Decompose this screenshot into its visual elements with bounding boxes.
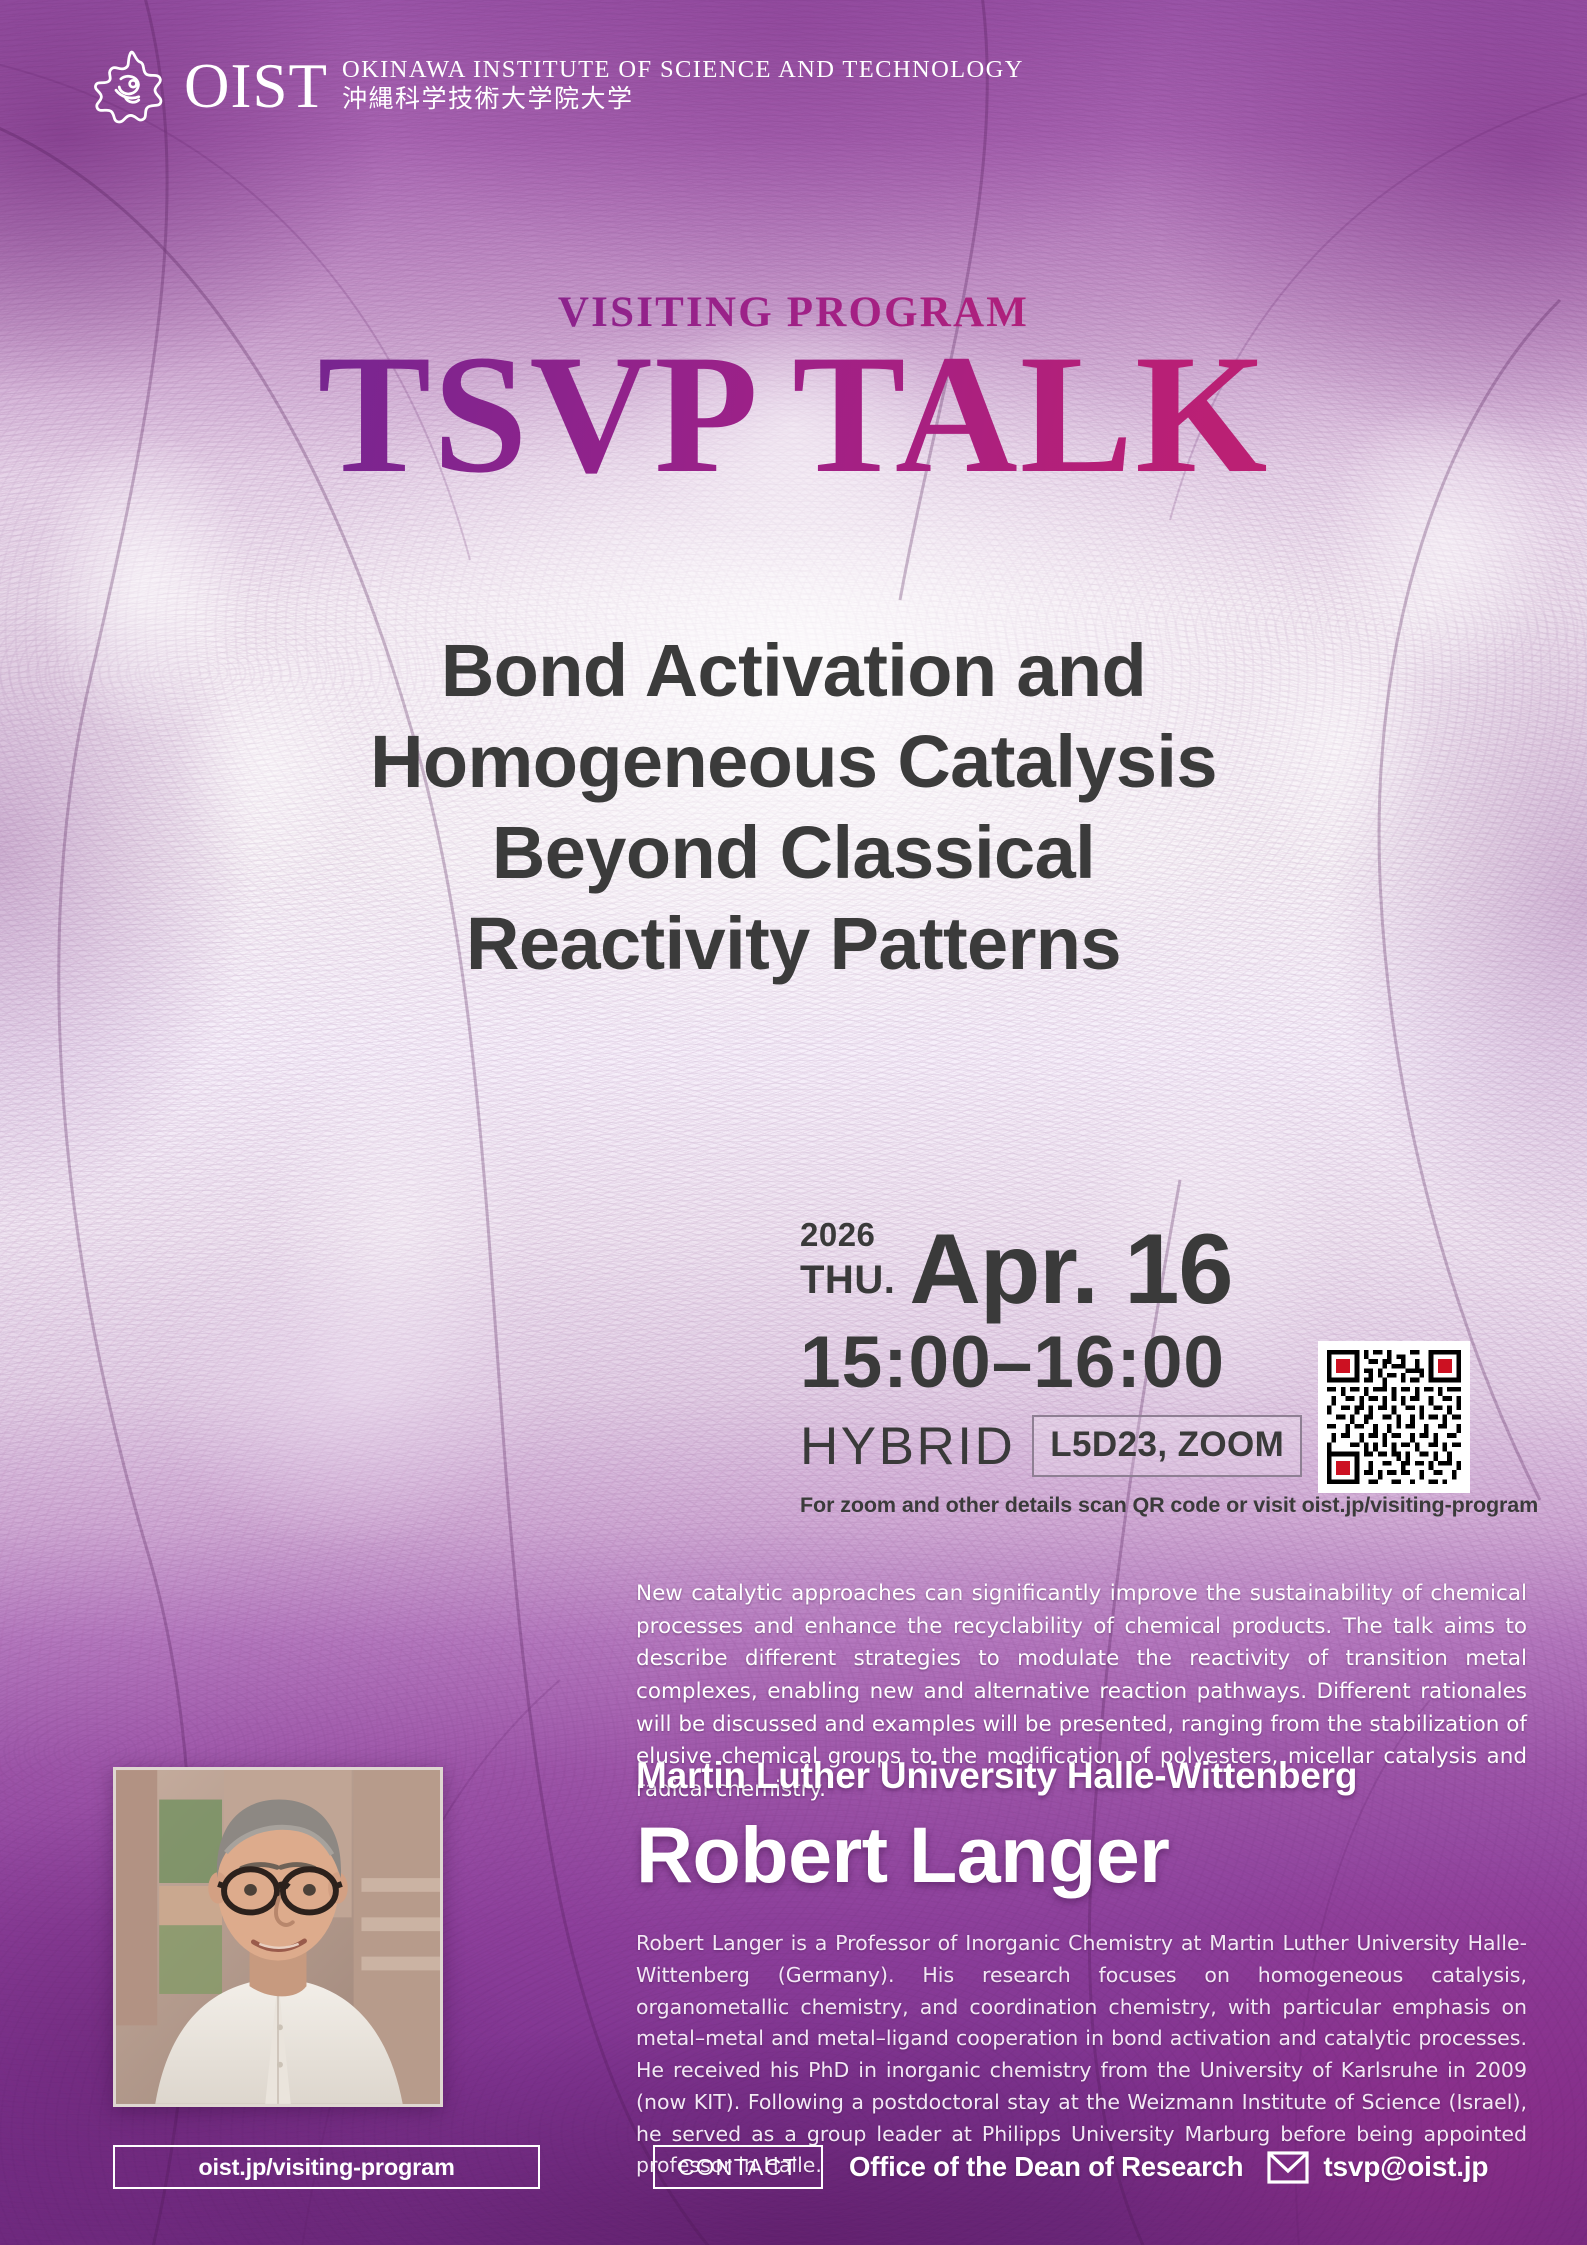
event-date: Apr. 16 <box>909 1223 1232 1314</box>
oist-shisa-logo-icon <box>88 48 170 126</box>
contact-email[interactable]: tsvp@oist.jp <box>1323 2151 1488 2183</box>
talk-title-line: Reactivity Patterns <box>95 898 1492 989</box>
speaker-photo <box>113 1767 443 2107</box>
footer-bar: oist.jp/visiting-program CONTACT Office … <box>0 2145 1587 2189</box>
tsvp-talk-title: TSVP TALK <box>0 325 1587 504</box>
talk-title-line: Homogeneous Catalysis <box>95 716 1492 807</box>
contact-label-box: CONTACT <box>653 2145 823 2189</box>
talk-title-line: Bond Activation and <box>95 625 1492 716</box>
institute-name-jp: 沖縄科学技術大学院大学 <box>342 84 1024 115</box>
qr-code-icon <box>1327 1350 1461 1484</box>
event-mode: HYBRID <box>800 1420 1015 1473</box>
poster: OIST OKINAWA INSTITUTE OF SCIENCE AND TE… <box>0 0 1587 2245</box>
contact-office: Office of the Dean of Research <box>849 2151 1243 2183</box>
oist-header: OIST OKINAWA INSTITUTE OF SCIENCE AND TE… <box>88 48 1024 126</box>
speaker-bio: Robert Langer is a Professor of Inorgani… <box>636 1928 1527 2182</box>
envelope-icon <box>1267 2151 1309 2184</box>
talk-title: Bond Activation and Homogeneous Catalysi… <box>95 625 1492 989</box>
event-day-of-week: THU. <box>800 1260 895 1300</box>
event-venue-badge: L5D23, ZOOM <box>1032 1415 1302 1477</box>
speaker-affiliation: Martin Luther University Halle-Wittenber… <box>636 1755 1527 1797</box>
event-year-dow: 2026 THU. <box>800 1218 895 1314</box>
institute-name-en: OKINAWA INSTITUTE OF SCIENCE AND TECHNOL… <box>342 56 1024 84</box>
qr-code[interactable] <box>1318 1341 1470 1493</box>
talk-title-line: Beyond Classical <box>95 807 1492 898</box>
oist-institute-names: OKINAWA INSTITUTE OF SCIENCE AND TECHNOL… <box>342 56 1024 118</box>
event-year: 2026 <box>800 1218 895 1251</box>
program-url-box[interactable]: oist.jp/visiting-program <box>113 2145 540 2189</box>
oist-wordmark: OIST <box>184 57 328 117</box>
speaker-portrait-icon <box>116 1770 440 2104</box>
event-date-row: 2026 THU. Apr. 16 <box>800 1218 1538 1314</box>
speaker-name: Robert Langer <box>636 1812 1527 1899</box>
qr-instruction-note: For zoom and other details scan QR code … <box>800 1493 1538 1518</box>
